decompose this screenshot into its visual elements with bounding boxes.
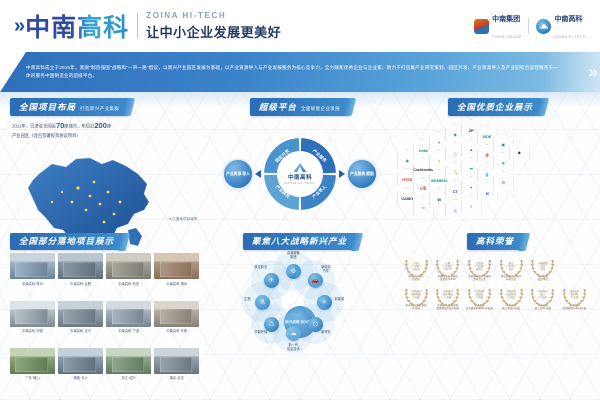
- panel-title-main: 超级平台: [259, 101, 297, 113]
- company-logo-mark-icon: ⚑: [501, 162, 504, 166]
- map-stats-post: 座: [107, 123, 111, 128]
- project-thumbnail-item[interactable]: 浙江·绍兴: [106, 348, 151, 392]
- brand-slogan: 让中小企业发展更美好: [146, 22, 281, 41]
- industries-flower-diagram: 新兴战略 新兴产业 ⚙高端装备制造🚗新能源汽车⚛新能源⬡新材料☁新一代信息技术♺…: [205, 252, 394, 392]
- company-logo-mark-icon: W: [437, 198, 441, 202]
- project-photo: [58, 253, 103, 279]
- project-photo: [10, 348, 55, 374]
- company-logo-mark-icon: ZP: [469, 129, 474, 133]
- project-photo: [154, 253, 199, 279]
- panel-title-main: 全国部分落地项目展示: [19, 235, 114, 247]
- flow-node-resource-import: 产业资源 导入: [223, 159, 253, 189]
- company-logo-mark-icon: ⤵: [453, 171, 457, 175]
- project-caption: 中南高科·嘉兴: [70, 328, 91, 333]
- industry-label: 节能环保: [245, 330, 277, 334]
- panel-title-main: 全国优质企业展示: [457, 101, 533, 113]
- panel-landed-projects: 全国部分落地项目展示 中南高科·常州中南高科·合肥中南高科·西安中南高科·湖州中…: [10, 233, 199, 392]
- honor-badge[interactable]: 中南高科智能制造产业园中南高科·智能制造 产业园: [401, 283, 432, 310]
- panel-title-super-platform: 超级平台 全面赋能企业发展: [250, 98, 350, 116]
- brand-divider: [137, 13, 138, 39]
- project-thumbnail-item[interactable]: 湖北·武汉: [154, 348, 199, 392]
- flow-node-service-empower: 产业服务 赋能: [347, 159, 377, 189]
- project-thumbnail-item[interactable]: 中南高科·宁波: [106, 301, 151, 345]
- project-photo: [154, 301, 199, 327]
- company-logo-mark-icon: ✦: [470, 186, 473, 190]
- page-header: » 中南高科 ZOINA HI-TECH 让中小企业发展更美好 中南集团 ZOI…: [0, 0, 600, 52]
- project-photo: [10, 253, 55, 279]
- industry-label: 生物: [231, 297, 263, 301]
- honor-badge[interactable]: 克而瑞产业园区影响力克而瑞中国产业园区 影响力企业: [464, 254, 495, 281]
- china-map-wrap: ● 已落地项目城市: [10, 142, 199, 229]
- panel-honors: 高科荣誉 中国产业地产运营商中国产业地产 运营商亿翰产业园区TOP10亿翰智库产…: [401, 233, 590, 392]
- panel-title-main: 聚焦八大战略新兴产业: [252, 235, 347, 247]
- company-logo-mark-icon: ◆: [518, 151, 521, 155]
- brand-title-cn: 中南高科: [25, 8, 129, 44]
- company-logo-mark-icon: ⬅: [470, 167, 473, 171]
- honor-badge[interactable]: 亿翰产业园区TOP10亿翰智库产业园区 运营商TOP10: [432, 254, 463, 281]
- map-stats: 2021年，已进驻全国近70座城市，布局近200座 产业园区（含已签署投资协议项…: [12, 120, 152, 140]
- chevron-right-icon: »: [14, 15, 22, 38]
- industry-label: 航空航天: [245, 265, 277, 269]
- company-logo-mark-icon: CASIO: [401, 197, 413, 201]
- logo-separator: [528, 18, 529, 34]
- panel-title-eight-industries: 聚焦八大战略新兴产业: [243, 233, 357, 251]
- honor-inner-text: 中南高科湖南·株洲产业园: [434, 287, 461, 303]
- company-logo-mark-icon: ⚙: [501, 181, 504, 185]
- logo-zoina-hitech-en: ZOINA HI-TECH: [554, 35, 586, 39]
- honor-inner-text: 中南高科青光成产业园: [466, 287, 493, 303]
- panel-title-main: 全国项目布局: [19, 101, 76, 113]
- header-logo-group: 中南集团 ZOINA GROUP 中南高科 ZOINA HI-TECH: [474, 9, 586, 43]
- panel-title-honors: 高科荣誉: [467, 233, 524, 251]
- industry-label: 新材料: [310, 330, 342, 334]
- content-grid: 全国项目布局 打造新兴产业集群 2021年，已进驻全国近70座城市，布局近200…: [0, 92, 600, 400]
- honor-badge[interactable]: 中国产业地产运营商中国产业地产 运营商: [401, 254, 432, 281]
- company-logo-mark-icon: SIEMENS: [431, 179, 448, 183]
- company-logo-mark-icon: ▲: [469, 148, 473, 152]
- project-thumbnail-item[interactable]: 中南高科·合肥: [58, 253, 103, 297]
- map-stats-note: 产业园区（含已签署投资协议项目）: [12, 133, 81, 138]
- company-logo-mark-icon: ⇦: [422, 206, 425, 210]
- project-caption: 中南高科·湖州: [166, 281, 187, 286]
- project-thumbnail-item[interactable]: 广东·佛山: [10, 348, 55, 392]
- project-thumbnail-item[interactable]: 中南高科·湖州: [154, 253, 199, 297]
- company-logo-mark-icon: ◆: [454, 133, 457, 137]
- map-stats-mid: 座城市，布局近: [64, 123, 94, 128]
- panel-title-sub: 打造新兴产业集群: [80, 106, 119, 112]
- project-photo: [10, 301, 55, 327]
- company-logo-mark-icon: 💧: [485, 173, 490, 177]
- intro-chevron-icon: »: [589, 62, 594, 82]
- panel-quality-companies: 全国优质企业展示 ◉HTSSCASIODeltaContinentalC※⇦✈ᚠ…: [401, 98, 590, 229]
- logo-zoina-group: 中南集团 ZOINA GROUP: [474, 9, 521, 43]
- honor-badge[interactable]: 中城联盟成员单位中城联盟 成员单位: [528, 254, 559, 281]
- honor-inner-text: 中南高科新材料产业园: [561, 287, 588, 303]
- company-logo-mark-icon: C※: [420, 187, 426, 191]
- honor-inner-text: 中南高科临工产业园: [529, 287, 556, 303]
- honor-badge[interactable]: 观点产业地产标杆观点指数产业地产 标杆企业: [496, 254, 527, 281]
- honor-badge[interactable]: 中南高科青光成产业园中南高科 青光区新材料Z6+产业园: [464, 283, 495, 310]
- logo-zoina-group-cn: 中南集团: [492, 16, 520, 23]
- panel-title-sub: 全面赋能企业发展: [301, 106, 340, 112]
- honor-inner-text: 观点产业地产标杆: [498, 258, 525, 274]
- company-logo-mark-icon: ≡: [470, 205, 472, 209]
- project-photo: [106, 301, 151, 327]
- project-thumbnail-item[interactable]: 中南高科·常州: [10, 253, 55, 297]
- company-logo-mark-icon: ◎: [454, 209, 457, 213]
- company-logo-mark-icon: ✈: [438, 141, 441, 145]
- company-logo-mark-icon: H: [486, 192, 489, 196]
- donut-center-cn: 中南高科: [288, 173, 312, 181]
- company-logo-mark-icon: ※: [485, 154, 489, 158]
- arrow-right-icon: [339, 170, 345, 178]
- panel-title-main: 高科荣誉: [476, 235, 514, 247]
- project-thumbnail-item[interactable]: 中南高科·西安: [106, 253, 151, 297]
- project-caption: 湖南·长沙: [73, 375, 87, 380]
- honor-badge-grid: 中国产业地产运营商中国产业地产 运营商亿翰产业园区TOP10亿翰智库产业园区 运…: [401, 254, 590, 392]
- industry-label: 新能源汽车: [310, 265, 342, 273]
- zoina-group-mark-icon: [474, 19, 489, 34]
- honor-inner-text: 中国产业地产运营商: [403, 258, 430, 274]
- project-thumbnail-grid: 中南高科·常州中南高科·合肥中南高科·西安中南高科·湖州中南高科·河源中南高科·…: [10, 253, 199, 392]
- project-photo: [106, 348, 151, 374]
- honor-inner-text: 中城联盟成员单位: [529, 258, 556, 274]
- project-caption: 中南高科·西安: [118, 281, 139, 286]
- honor-inner-text: 亿翰产业园区TOP10: [434, 258, 461, 274]
- company-logo-hexgrid: ◉HTSSCASIODeltaContinentalC※⇦✈ᚠSIEMENSW◆…: [401, 119, 590, 229]
- industry-label: 新一代信息技术: [277, 343, 309, 351]
- company-logo-mark-icon: △: [454, 152, 457, 156]
- brand-text-block: ZOINA HI-TECH 让中小企业发展更美好: [146, 11, 281, 41]
- company-logo-mark-icon: ▣: [501, 143, 505, 147]
- project-photo: [106, 253, 151, 279]
- panel-super-platform: 超级平台 全面赋能企业发展 产业资源 导入 园区开发: [205, 98, 394, 229]
- industry-label: 高端装备制造: [277, 251, 309, 259]
- company-logo-mark-icon: Delta: [419, 149, 428, 153]
- panel-title-landed-projects: 全国部分落地项目展示: [10, 233, 124, 251]
- company-intro-band: 中南高科成立于2015年，紧跟"制造强国"战略和"一带一路"倡议，以新兴产业园区…: [0, 52, 600, 92]
- honor-badge[interactable]: 中南高科新材料产业园中南高科 新增智能4+4产业+园: [559, 283, 590, 310]
- project-caption: 浙江·绍兴: [122, 375, 136, 380]
- arrow-left-icon: [255, 170, 261, 178]
- project-photo: [154, 348, 199, 374]
- brand-title-en: ZOINA HI-TECH: [146, 11, 281, 20]
- company-logo-mark-icon: ᚠ: [438, 160, 440, 164]
- map-stat-parks: 200: [94, 121, 107, 130]
- project-caption: 中南高科·河源: [22, 328, 43, 333]
- poster-root: » 中南高科 ZOINA HI-TECH 让中小企业发展更美好 中南集团 ZOI…: [0, 0, 600, 400]
- logo-zoina-hitech: 中南高科 ZOINA HI-TECH: [536, 9, 586, 43]
- industry-label: 新能源: [323, 297, 355, 301]
- logo-zoina-group-en: ZOINA GROUP: [492, 35, 521, 39]
- honor-badge[interactable]: 中南高科松江智造产业园中南高科 松江智造产业园: [496, 283, 527, 310]
- project-photo: [58, 301, 103, 327]
- honor-badge[interactable]: 中南高科湖南·株洲产业园中南高科·株洲高科 智能科技信息产业园: [432, 283, 463, 310]
- zoina-hitech-mark-icon: [536, 19, 551, 34]
- company-intro-text: 中南高科成立于2015年，紧跟"制造强国"战略和"一带一路"倡议，以新兴产业园区…: [26, 64, 558, 81]
- panel-national-layout: 全国项目布局 打造新兴产业集群 2021年，已进驻全国近70座城市，布局近200…: [10, 98, 199, 229]
- zoina-mountain-icon: [293, 163, 306, 172]
- project-thumbnail-item[interactable]: 中南高科·东莞: [154, 301, 199, 345]
- platform-donut: 园区开发 产业服务 产业导入 产业研究 中南高科 ZOINA HI-TECH: [263, 137, 337, 211]
- donut-center-en: ZOINA HI-TECH: [285, 182, 316, 185]
- company-logo-mark-icon: HTSS: [402, 178, 412, 182]
- industry-icon[interactable]: ✈: [264, 273, 279, 288]
- project-thumbnail-item[interactable]: 中南高科·嘉兴: [58, 301, 103, 345]
- project-thumbnail-item[interactable]: 湖南·长沙: [58, 348, 103, 392]
- project-thumbnail-item[interactable]: 中南高科·河源: [10, 301, 55, 345]
- donut-center-logo: 中南高科 ZOINA HI-TECH: [277, 151, 323, 197]
- company-logo-mark-icon: BOE: [483, 135, 491, 139]
- company-logo-mark-icon: CT: [453, 190, 458, 194]
- project-caption: 中南高科·合肥: [70, 281, 91, 286]
- honor-inner-text: 中南高科智能制造产业园: [403, 287, 430, 303]
- project-caption: 湖北·武汉: [170, 375, 184, 380]
- honor-badge[interactable]: 中南高科临工产业园中南高科 临工业4产业园: [528, 283, 559, 310]
- panel-title-quality-companies: 全国优质企业展示: [448, 98, 543, 116]
- map-legend: ● 已落地项目城市: [169, 217, 197, 223]
- logo-zoina-hitech-cn: 中南高科: [554, 16, 582, 23]
- project-caption: 中南高科·常州: [22, 281, 43, 286]
- company-logo-mark-icon: ◉: [406, 159, 409, 163]
- panel-title-national-layout: 全国项目布局 打造新兴产业集群: [10, 98, 129, 116]
- platform-flow-diagram: 产业资源 导入 园区开发 产业服务 产业导入 产业研究: [205, 120, 394, 229]
- honor-inner-text: 中南高科松江智造产业园: [498, 287, 525, 303]
- project-caption: 中南高科·东莞: [166, 328, 187, 333]
- project-caption: 广东·佛山: [25, 375, 39, 380]
- honor-inner-text: 克而瑞产业园区影响力: [466, 258, 493, 274]
- panel-eight-industries: 聚焦八大战略新兴产业 新兴战略 新兴产业 ⚙高端装备制造🚗新能源汽车⚛新能源⬡新…: [205, 233, 394, 392]
- map-stats-pre: 2021年，已进驻全国近: [12, 123, 56, 128]
- project-caption: 中南高科·宁波: [118, 328, 139, 333]
- project-photo: [58, 348, 103, 374]
